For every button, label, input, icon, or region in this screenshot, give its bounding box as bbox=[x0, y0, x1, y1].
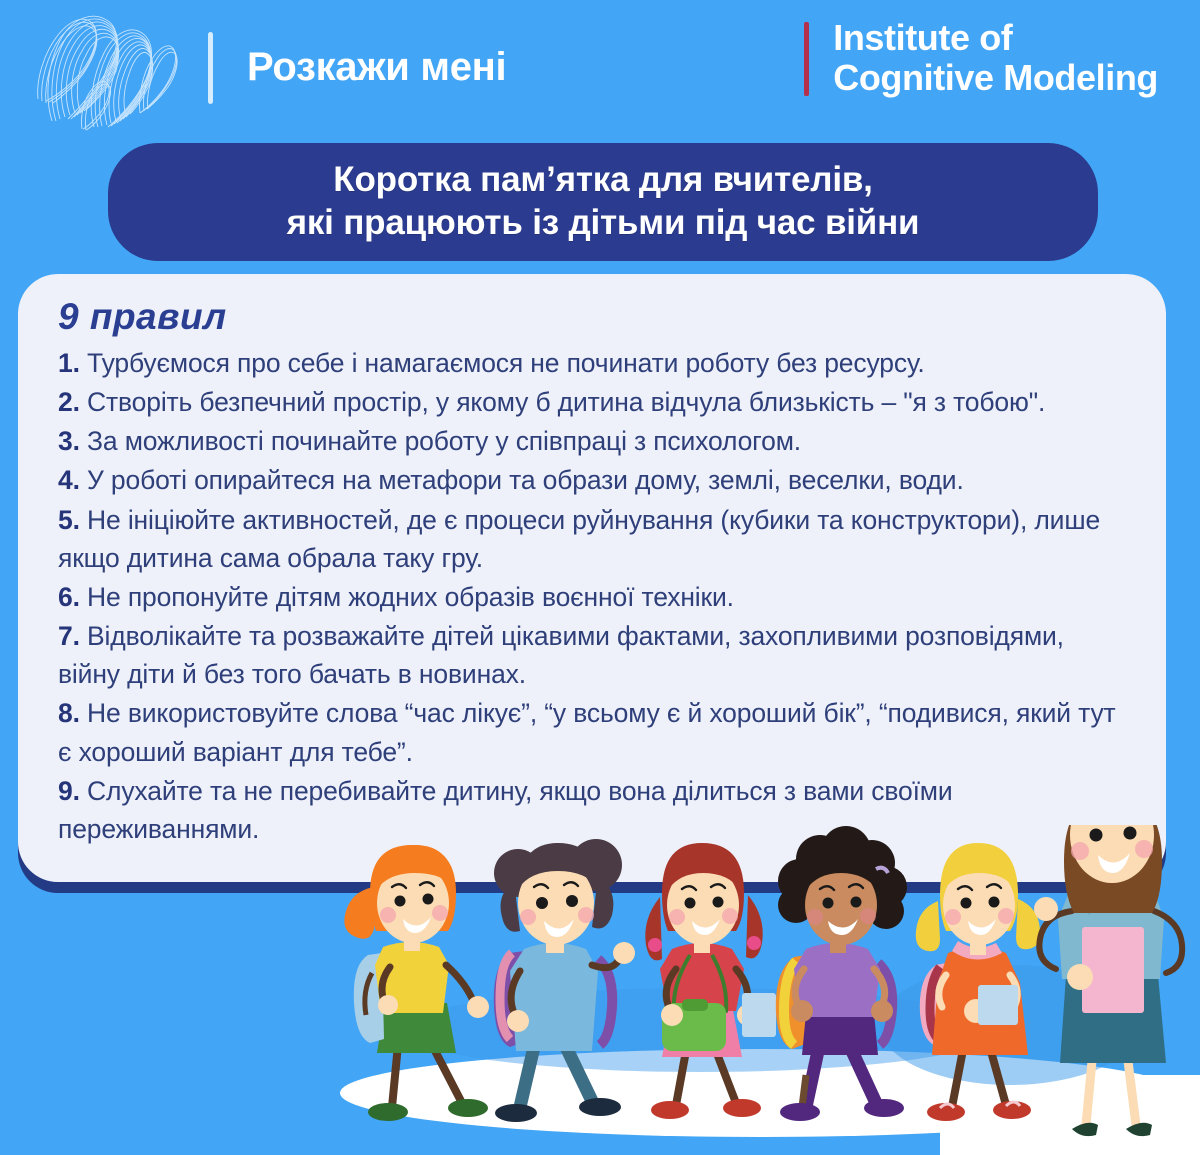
rule-number: 7. bbox=[58, 621, 80, 651]
rule-number: 6. bbox=[58, 582, 80, 612]
institute-name: Institute of Cognitive Modeling bbox=[833, 18, 1158, 97]
rule-item: 3. За можливості починайте роботу у спів… bbox=[58, 422, 1130, 460]
title-banner: Коротка пам’ятка для вчителів, які працю… bbox=[108, 143, 1098, 261]
page-title: Коротка пам’ятка для вчителів, які працю… bbox=[287, 159, 920, 244]
rules-list: 1. Турбуємося про себе і намагаємося не … bbox=[58, 344, 1130, 848]
institute-divider-icon bbox=[804, 22, 809, 96]
rules-card: 9 правил 1. Турбуємося про себе і намага… bbox=[18, 274, 1166, 882]
rule-text: У роботі опирайтеся на метафори та образ… bbox=[87, 465, 964, 495]
card-heading: 9 правил bbox=[58, 296, 1130, 338]
brand-right: Institute of Cognitive Modeling bbox=[804, 18, 1158, 97]
rule-number: 4. bbox=[58, 465, 80, 495]
rule-text: Турбуємося про себе і намагаємося не поч… bbox=[87, 348, 925, 378]
rule-item: 4. У роботі опирайтеся на метафори та об… bbox=[58, 461, 1130, 499]
rule-number: 9. bbox=[58, 776, 80, 806]
rule-item: 5. Не ініціюйте активностей, де є процес… bbox=[58, 501, 1130, 577]
rule-text: Не пропонуйте дітям жодних образів воєнн… bbox=[87, 582, 734, 612]
rule-item: 7. Відволікайте та розважайте дітей ціка… bbox=[58, 617, 1130, 693]
rule-number: 2. bbox=[58, 387, 80, 417]
rule-item: 8. Не використовуйте слова “час лікує”, … bbox=[58, 694, 1130, 770]
poster-root: Розкажи мені Institute of Cognitive Mode… bbox=[0, 0, 1200, 1155]
rule-item: 6. Не пропонуйте дітям жодних образів во… bbox=[58, 578, 1130, 616]
brand-left: Розкажи мені bbox=[22, 8, 506, 128]
rule-text: Відволікайте та розважайте дітей цікавим… bbox=[58, 621, 1064, 689]
rule-text: Не використовуйте слова “час лікує”, “у … bbox=[58, 698, 1116, 766]
rule-text: За можливості починайте роботу у співпра… bbox=[87, 426, 801, 456]
rule-item: 2. Створіть безпечний простір, у якому б… bbox=[58, 383, 1130, 421]
rule-number: 3. bbox=[58, 426, 80, 456]
brand-name: Розкажи мені bbox=[247, 46, 506, 89]
rule-number: 5. bbox=[58, 505, 80, 535]
brand-divider-icon bbox=[208, 32, 213, 104]
header: Розкажи мені Institute of Cognitive Mode… bbox=[0, 0, 1200, 132]
children-and-teacher-illustration bbox=[0, 825, 1200, 1155]
rule-number: 1. bbox=[58, 348, 80, 378]
rule-item: 1. Турбуємося про себе і намагаємося не … bbox=[58, 344, 1130, 382]
rule-text: Не ініціюйте активностей, де є процеси р… bbox=[58, 505, 1100, 573]
wave-mesh-logo-icon bbox=[22, 3, 192, 133]
rule-text: Створіть безпечний простір, у якому б ди… bbox=[87, 387, 1045, 417]
rule-number: 8. bbox=[58, 698, 80, 728]
